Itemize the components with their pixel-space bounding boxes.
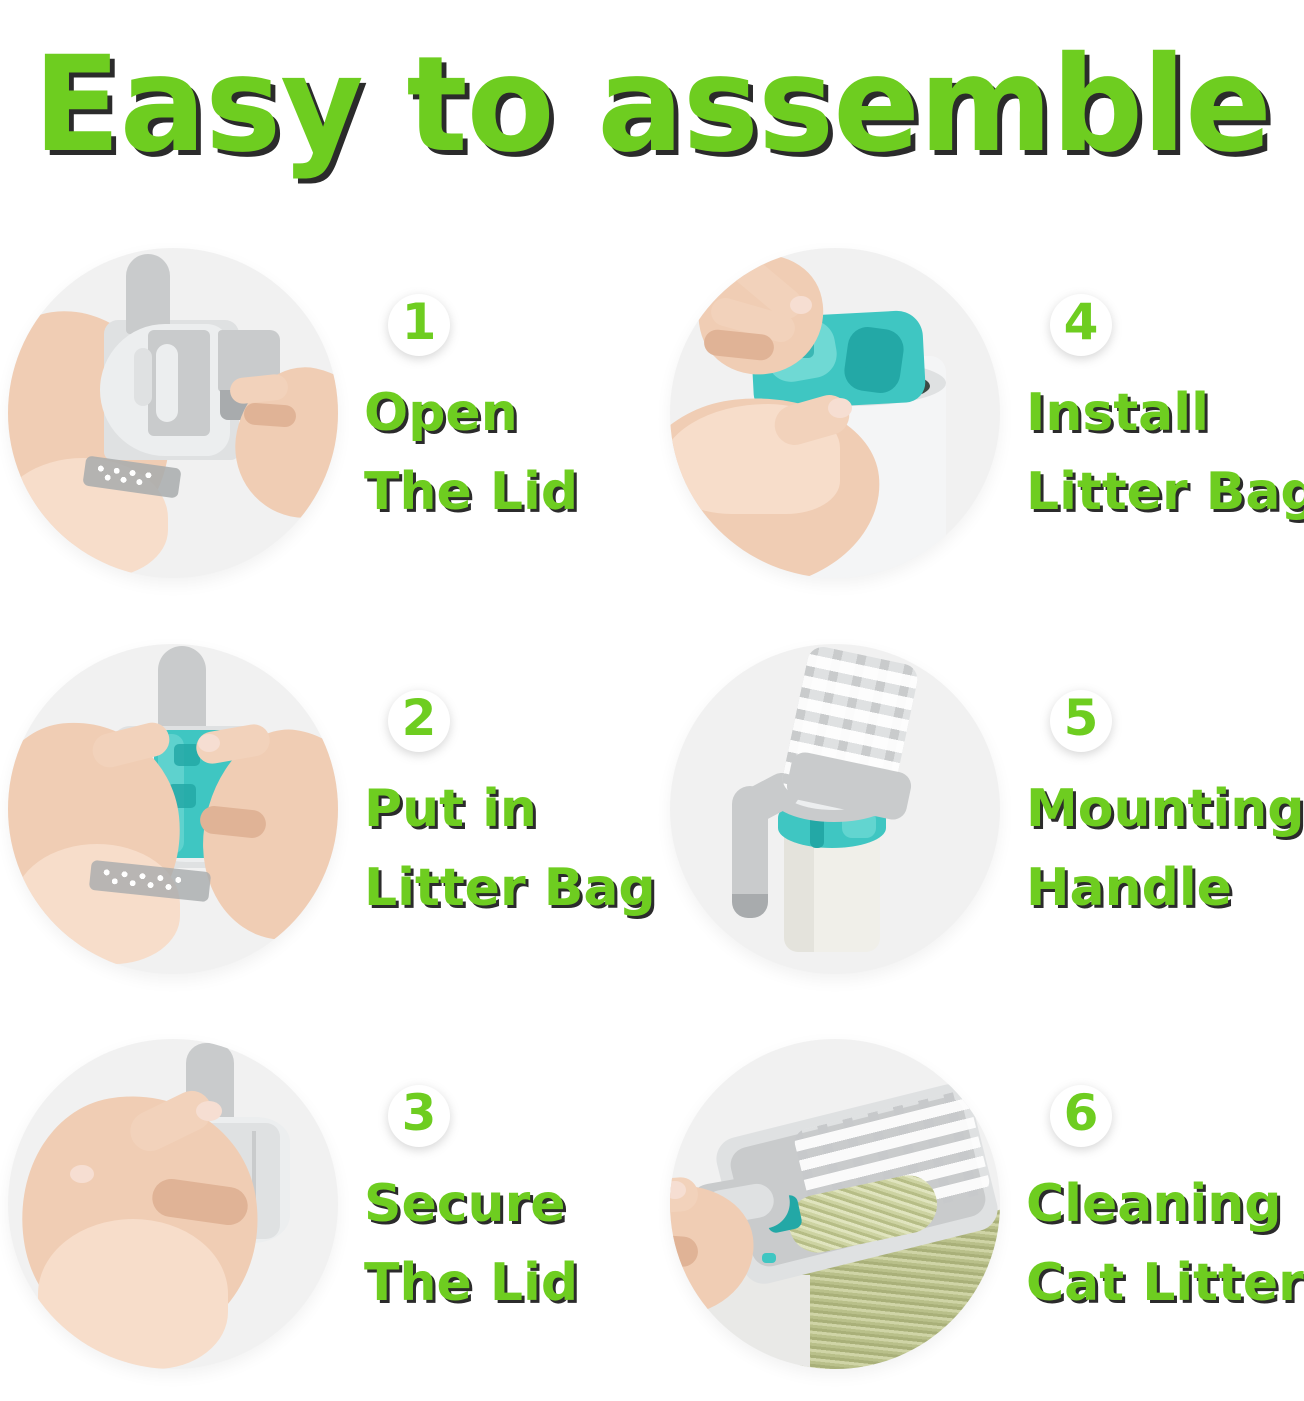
step-photo-3 [8,1039,338,1369]
step-number-3: 3 [402,1088,437,1138]
step-number-2: 2 [402,693,437,743]
step-number-badge-3: 3 [388,1085,450,1147]
step-text-4: 4 Install Litter Bags [1026,294,1304,532]
page-title: Easy to assemble [33,39,1271,171]
step-label-line2-1: The Lid [364,453,578,532]
step-label-line1-1: Open [364,374,518,453]
step-label-line1-5: Mounting [1026,770,1304,849]
step-label-line1-4: Install [1026,374,1209,453]
step-number-badge-4: 4 [1050,294,1112,356]
step-card-2: 2 Put in Litter Bag [0,611,652,1007]
step-label-line2-4: Litter Bags [1026,453,1304,532]
step-number-badge-5: 5 [1050,690,1112,752]
step-photo-1 [8,248,338,578]
step-text-1: 1 Open The Lid [364,294,578,532]
step-card-6: 6 Cleaning Cat Litter [652,1007,1304,1401]
step-number-1: 1 [402,297,437,347]
step-number-badge-1: 1 [388,294,450,356]
step-card-4: 4 Install Litter Bags [652,215,1304,611]
step-number-5: 5 [1064,693,1099,743]
step-photo-4 [670,248,1000,578]
step-photo-5 [670,644,1000,974]
step-text-3: 3 Secure The Lid [364,1085,578,1323]
step-label-line1-2: Put in [364,770,537,849]
step-photo-2 [8,644,338,974]
step-text-6: 6 Cleaning Cat Litter [1026,1085,1304,1323]
step-number-badge-2: 2 [388,690,450,752]
step-label-line1-6: Cleaning [1026,1165,1281,1244]
step-text-2: 2 Put in Litter Bag [364,690,656,928]
assembly-steps-grid: 1 Open The Lid [0,215,1304,1401]
step-card-1: 1 Open The Lid [0,215,652,611]
step-label-line2-5: Handle [1026,849,1232,928]
step-photo-6 [670,1039,1000,1369]
header: Easy to assemble [0,0,1304,210]
step-label-line2-2: Litter Bag [364,849,656,928]
step-label-line2-6: Cat Litter [1026,1244,1304,1323]
step-label-line2-3: The Lid [364,1244,578,1323]
step-number-4: 4 [1064,297,1099,347]
step-number-badge-6: 6 [1050,1085,1112,1147]
step-number-6: 6 [1064,1088,1099,1138]
step-text-5: 5 Mounting Handle [1026,690,1304,928]
step-card-3: 3 Secure The Lid [0,1007,652,1401]
step-label-line1-3: Secure [364,1165,565,1244]
step-card-5: 5 Mounting Handle [652,611,1304,1007]
